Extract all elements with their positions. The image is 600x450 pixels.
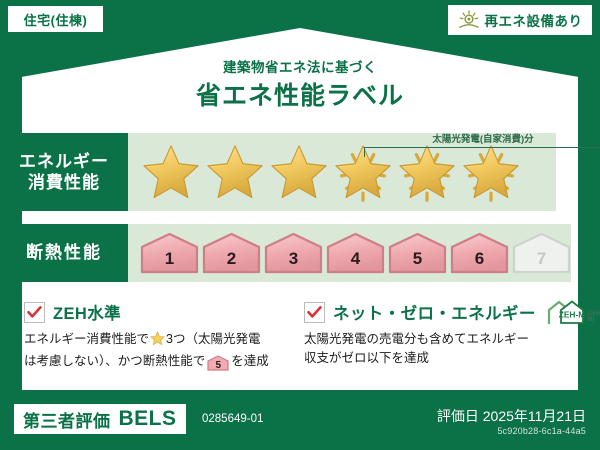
third-party-evaluation-text: 第三者評価 bbox=[23, 407, 111, 432]
evaluation-date-label: 評価日 bbox=[437, 408, 479, 424]
document-type-chip: 住宅(住棟) bbox=[8, 6, 103, 32]
insulation-level-value: 1 bbox=[165, 249, 174, 269]
zeh-m-logo: ZEH-M (ZEH-M) bbox=[545, 299, 600, 325]
star-icon bbox=[204, 142, 266, 202]
insulation-level-badge: 2 bbox=[202, 232, 261, 274]
energy-performance-label: 住宅(住棟) 再エネ設備あり 建築物省エネ法に基づく 省エネ性能ラベル bbox=[0, 0, 600, 450]
document-type-text: 住宅(住棟) bbox=[24, 10, 88, 29]
energy-performance-row: エネルギー 消費性能 太陽光発電(自家消費)分 bbox=[0, 133, 556, 211]
star-rating bbox=[128, 142, 522, 202]
bels-evaluation-box: 第三者評価 BELS bbox=[14, 404, 186, 434]
criterion-zeh: ZEH水準 エネルギー消費性能で 3つ（太陽光発電 は考慮しない）、かつ断熱性能… bbox=[24, 300, 296, 372]
insulation-level-badge: 6 bbox=[450, 232, 509, 274]
insulation-level-value: 3 bbox=[289, 249, 298, 269]
insulation-level-value: 5 bbox=[413, 249, 422, 269]
criterion-nze-header: ネット・ゼロ・エネルギー ZEH-M (ZEH-M) bbox=[304, 300, 586, 324]
insulation-performance-row: 断熱性能 1234567 bbox=[0, 224, 556, 282]
criterion-zeh-header: ZEH水準 bbox=[24, 300, 296, 324]
nze-line2: 収支がゼロ以下を達成 bbox=[304, 351, 429, 365]
zeh-text-part3: を達成 bbox=[231, 354, 269, 368]
inline-house-badge: 5 bbox=[207, 355, 229, 371]
insulation-level-badge: 5 bbox=[388, 232, 447, 274]
zeh-description: エネルギー消費性能で 3つ（太陽光発電 は考慮しない）、かつ断熱性能で 5 を達… bbox=[24, 330, 296, 372]
svg-text:ZEH-M: ZEH-M bbox=[559, 310, 586, 320]
insulation-level-value: 7 bbox=[537, 249, 546, 269]
zeh-title: ZEH水準 bbox=[53, 300, 121, 324]
inline-house-value: 5 bbox=[215, 360, 221, 371]
insulation-rating-area: 1234567 bbox=[128, 224, 571, 282]
star-icon bbox=[268, 142, 330, 202]
renewable-badge-text: 再エネ設備あり bbox=[485, 10, 583, 30]
energy-performance-label-block: エネルギー 消費性能 bbox=[0, 133, 128, 211]
insulation-level-value: 2 bbox=[227, 249, 236, 269]
star-icon bbox=[140, 142, 202, 202]
insulation-level-scale: 1234567 bbox=[128, 232, 571, 274]
energy-performance-rating-area: 太陽光発電(自家消費)分 bbox=[128, 133, 556, 211]
star-icon-solar bbox=[396, 142, 458, 202]
sun-icon bbox=[458, 10, 480, 30]
net-zero-energy-checkbox[interactable] bbox=[304, 302, 325, 323]
net-zero-energy-title: ネット・ゼロ・エネルギー bbox=[333, 300, 536, 324]
label-title: 省エネ性能ラベル bbox=[0, 76, 600, 112]
zeh-star-count: 3つ（太陽光発電 bbox=[166, 332, 260, 346]
zeh-checkbox[interactable] bbox=[24, 302, 45, 323]
insulation-label-text: 断熱性能 bbox=[26, 242, 102, 263]
bels-logo-text: BELS bbox=[119, 407, 177, 431]
nze-line1: 太陽光発電の売電分も含めてエネルギー bbox=[304, 332, 529, 346]
evaluation-date: 評価日 2025年11月21日 bbox=[437, 406, 586, 426]
insulation-level-badge: 4 bbox=[326, 232, 385, 274]
star-icon-solar bbox=[332, 142, 394, 202]
insulation-level-value: 6 bbox=[475, 249, 484, 269]
energy-label-line2: 消費性能 bbox=[28, 172, 100, 193]
insulation-level-value: 4 bbox=[351, 249, 360, 269]
label-footer: 第三者評価 BELS 0285649-01 評価日 2025年11月21日 5c… bbox=[0, 394, 600, 450]
insulation-level-badge: 7 bbox=[512, 232, 571, 274]
energy-label-line1: エネルギー bbox=[19, 151, 109, 172]
renewable-equipment-badge: 再エネ設備あり bbox=[448, 5, 592, 35]
certificate-number: 0285649-01 bbox=[202, 413, 263, 425]
insulation-performance-label-block: 断熱性能 bbox=[0, 224, 128, 282]
net-zero-energy-description: 太陽光発電の売電分も含めてエネルギー 収支がゼロ以下を達成 bbox=[304, 330, 586, 369]
zeh-text-part1: エネルギー消費性能で bbox=[24, 332, 149, 346]
record-id: 5c920b28-6c1a-44a5 bbox=[497, 426, 586, 436]
label-subtitle: 建築物省エネ法に基づく bbox=[0, 56, 600, 76]
zeh-text-part2: は考慮しない）、かつ断熱性能で bbox=[24, 354, 205, 368]
star-icon-solar bbox=[460, 142, 522, 202]
insulation-level-badge: 3 bbox=[264, 232, 323, 274]
inline-star-icon bbox=[150, 331, 165, 352]
evaluation-date-value: 2025年11月21日 bbox=[483, 408, 586, 424]
criterion-net-zero-energy: ネット・ゼロ・エネルギー ZEH-M (ZEH-M) 太陽光発電の売電分も含めて… bbox=[304, 300, 586, 369]
insulation-level-badge: 1 bbox=[140, 232, 199, 274]
